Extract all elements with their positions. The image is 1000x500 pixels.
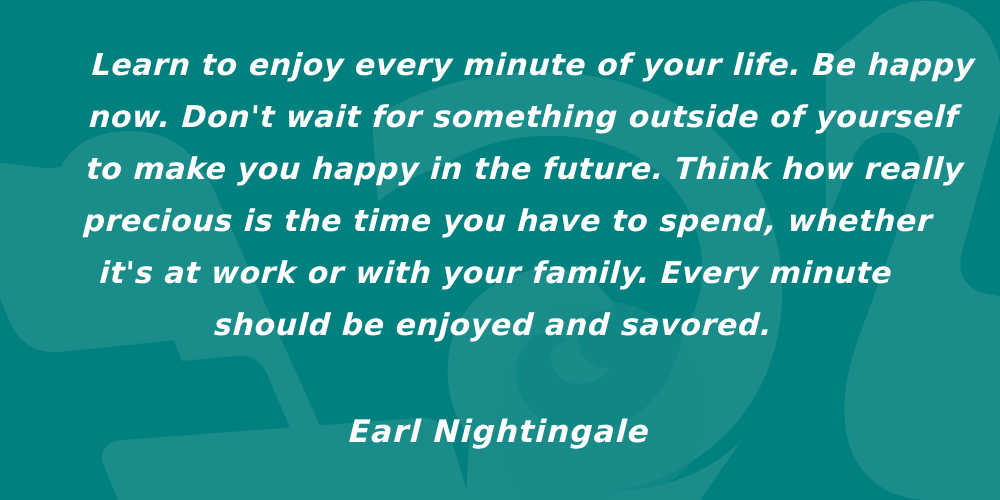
quote-line: Learn to enjoy every minute of your life… [90,40,923,92]
quote-card: Learn to enjoy every minute of your life… [0,0,1000,500]
quote-content: Learn to enjoy every minute of your life… [0,0,1000,500]
quote-line: to make you happy in the future. Think h… [85,144,918,196]
quote-line: now. Don't wait for something outside of… [88,92,921,144]
quote-line: it's at work or with your family. Every … [80,248,913,300]
quote-line: precious is the time you have to spend, … [82,196,915,248]
quote-author: Earl Nightingale [348,414,651,450]
quote-text: Learn to enjoy every minute of your life… [77,40,923,352]
quote-line: should be enjoyed and savored. [77,300,910,352]
